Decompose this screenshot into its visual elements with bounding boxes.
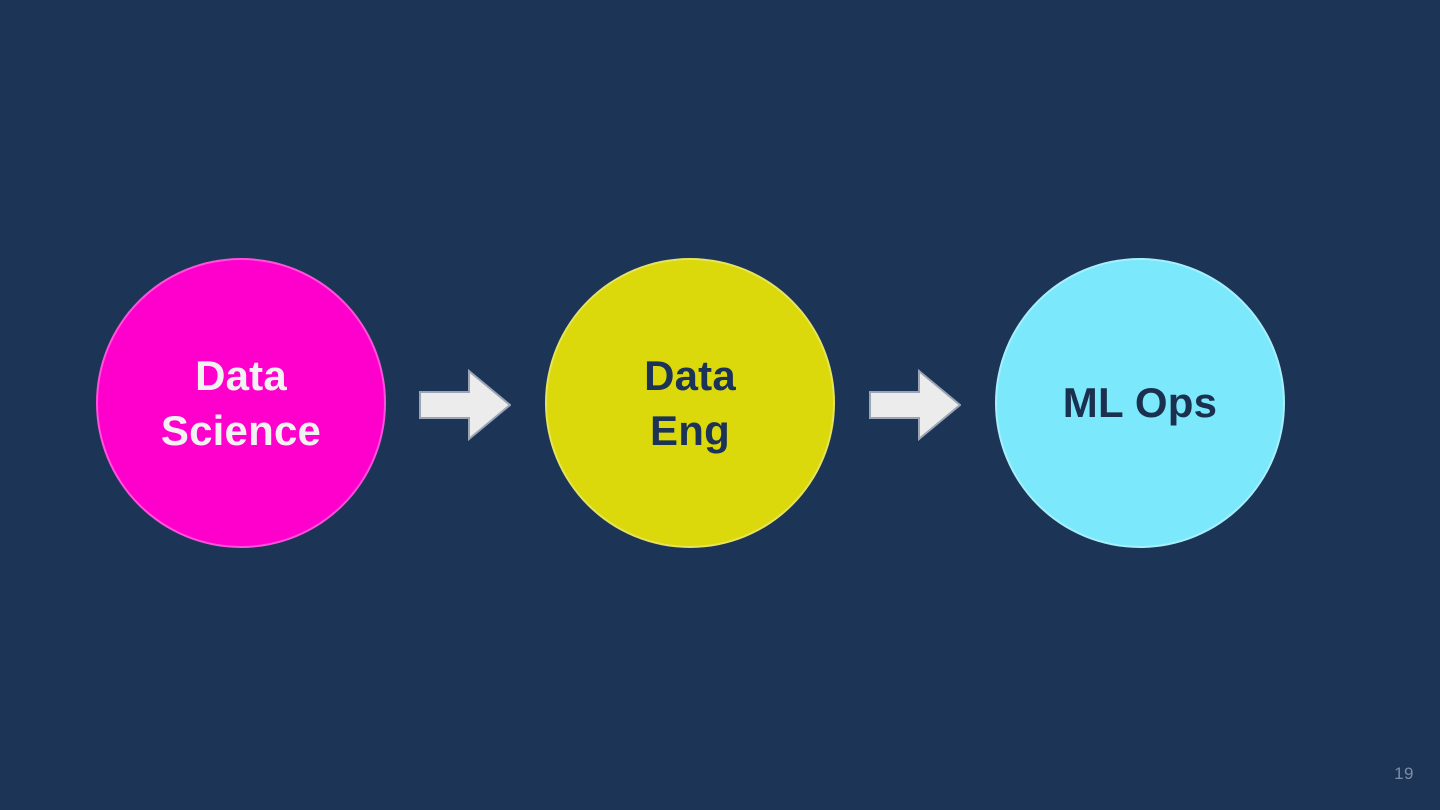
- flow-node-data-science[interactable]: Data Science: [96, 258, 386, 548]
- arrow-right-icon: [869, 369, 961, 441]
- flow-node-data-eng[interactable]: Data Eng: [545, 258, 835, 548]
- slide-page-number: 19: [1394, 764, 1414, 784]
- arrow-right-glyph: [869, 369, 961, 441]
- flow-node-label: Data Science: [143, 348, 339, 459]
- slide-canvas: Data Science Data Eng ML Ops 19: [0, 0, 1440, 810]
- flow-node-label: Data Eng: [626, 348, 754, 459]
- arrow-right-glyph: [419, 369, 511, 441]
- flow-node-ml-ops[interactable]: ML Ops: [995, 258, 1285, 548]
- arrow-right-icon: [419, 369, 511, 441]
- flow-node-label: ML Ops: [1045, 375, 1235, 430]
